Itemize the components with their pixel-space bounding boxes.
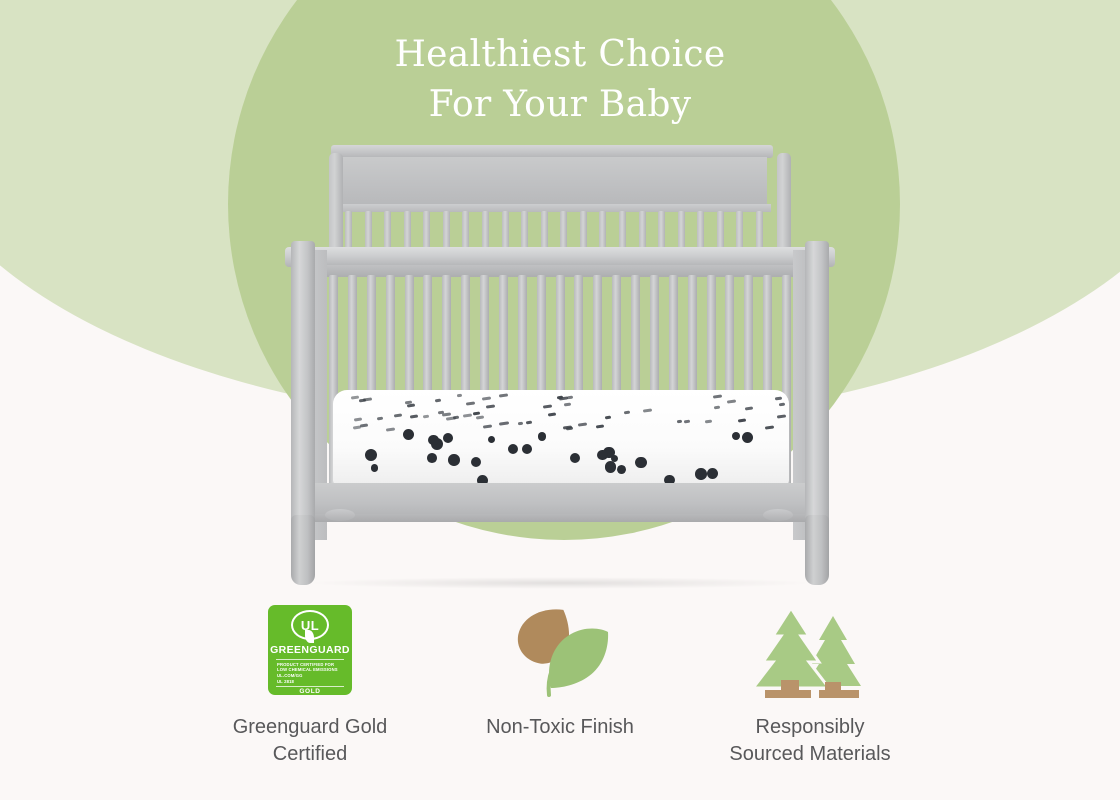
sheet-dot [448, 454, 460, 466]
crib-inner-foot-left [325, 509, 355, 521]
pine-trees-logs-icon [745, 600, 875, 700]
sheet-dash [453, 415, 459, 419]
sheet-dot [471, 457, 481, 467]
sheet-dash [352, 426, 360, 430]
crib-inner-foot-right [763, 509, 793, 521]
crib-corner-post-left [291, 241, 315, 541]
feature-list: UL GREENGUARD PRODUCT CERTIFIED FOR LOW … [0, 600, 1120, 790]
sheet-dot [617, 465, 626, 474]
promo-banner: Healthiest Choice For Your Baby [0, 0, 1120, 800]
sheet-dash [624, 411, 630, 415]
sheet-dash [712, 395, 722, 399]
sheet-dash [465, 401, 474, 405]
feature-caption-non-toxic: Non-Toxic Finish [486, 714, 634, 741]
sheet-dash [422, 415, 429, 419]
sheet-dot [742, 432, 753, 443]
sheet-dot [707, 468, 718, 479]
crib-product-image [285, 145, 835, 585]
sheet-dot [522, 444, 532, 454]
sheet-dash [775, 396, 783, 400]
sheet-dot [695, 468, 707, 480]
sheet-dot [443, 433, 453, 443]
sheet-dot [605, 461, 616, 472]
sheet-dash [518, 421, 523, 425]
sheet-dash [764, 425, 774, 429]
sheet-dash [578, 423, 588, 427]
feature-non-toxic: Non-Toxic Finish [435, 600, 685, 741]
headline-line-2: For Your Baby [0, 80, 1120, 130]
crib-base-board-lip [305, 514, 815, 522]
crib-headboard-post-right [777, 153, 791, 253]
two-leaves-icon [505, 600, 615, 700]
sheet-dash [677, 420, 683, 424]
sheet-dash [683, 420, 690, 424]
badge-divider-top [276, 659, 344, 660]
sheet-dash [482, 397, 492, 401]
sheet-dash [486, 404, 495, 408]
sheet-dash [386, 427, 396, 431]
sheet-dash [738, 418, 746, 422]
crib-mattress-sheet [333, 390, 789, 486]
sheet-dash [777, 414, 786, 418]
crib-headboard-post-left [329, 153, 343, 253]
sheet-dot [570, 453, 580, 463]
sheet-dot [427, 453, 437, 463]
crib-leg-left [291, 515, 315, 585]
sheet-dash [548, 412, 556, 416]
sheet-dash [499, 421, 509, 425]
sheet-dash [457, 394, 463, 398]
badge-level: GOLD [299, 688, 320, 695]
crib-base-board [305, 483, 815, 517]
sheet-dot [508, 444, 518, 454]
sheet-dot [365, 449, 377, 461]
sheet-dash [567, 395, 573, 399]
feature-greenguard: UL GREENGUARD PRODUCT CERTIFIED FOR LOW … [185, 600, 435, 768]
sheet-dash [476, 416, 484, 420]
sheet-dash [354, 417, 362, 421]
page-title: Healthiest Choice For Your Baby [0, 30, 1120, 130]
sheet-dash [745, 407, 753, 411]
sheet-dot [488, 436, 495, 443]
sheet-dash [473, 412, 480, 416]
crib-ground-shadow [305, 577, 815, 589]
sheet-dash [526, 420, 532, 424]
greenguard-wordmark: GREENGUARD [270, 644, 350, 656]
sheet-dash [394, 413, 402, 417]
ul-mark-icon: UL [291, 610, 329, 640]
crib-headboard-panel [337, 157, 767, 207]
crib-leg-right [805, 515, 829, 585]
sheet-dash [483, 425, 493, 429]
sheet-dash [543, 405, 553, 409]
sheet-dot [538, 432, 546, 440]
crib-corner-post-right [805, 241, 829, 541]
sheet-dash [643, 409, 653, 413]
greenguard-gold-badge-icon: UL GREENGUARD PRODUCT CERTIFIED FOR LOW … [268, 600, 352, 700]
sheet-dash [363, 397, 372, 401]
headline-line-1: Healthiest Choice [0, 30, 1120, 80]
sheet-dash [779, 403, 785, 407]
badge-fine-print: PRODUCT CERTIFIED FOR LOW CHEMICAL EMISS… [277, 662, 343, 684]
sheet-dash [442, 412, 451, 416]
sheet-dash [407, 403, 415, 407]
feature-sourcing: Responsibly Sourced Materials [685, 600, 935, 768]
sheet-dash [705, 419, 713, 423]
badge-divider-bottom [276, 686, 344, 687]
sheet-dash [435, 399, 441, 403]
sheet-dash [409, 414, 418, 418]
sheet-dot [597, 450, 608, 461]
sheet-dot [371, 464, 378, 471]
sheet-dash [564, 402, 571, 406]
crib-front-top-rail [285, 247, 835, 267]
sheet-dash [596, 424, 604, 428]
sheet-dash [714, 406, 720, 410]
feature-caption-greenguard: Greenguard Gold Certified [233, 714, 388, 768]
sheet-dash [463, 414, 473, 418]
sheet-dash [605, 415, 611, 419]
feature-caption-sourcing: Responsibly Sourced Materials [729, 714, 890, 768]
sheet-dash [499, 393, 508, 397]
sheet-dash [566, 427, 574, 431]
sheet-dash [377, 417, 384, 421]
sheet-dot [635, 457, 647, 469]
sheet-dot [732, 432, 740, 440]
sheet-dot [403, 429, 414, 440]
sheet-dot [428, 435, 439, 446]
sheet-dash [727, 399, 737, 403]
